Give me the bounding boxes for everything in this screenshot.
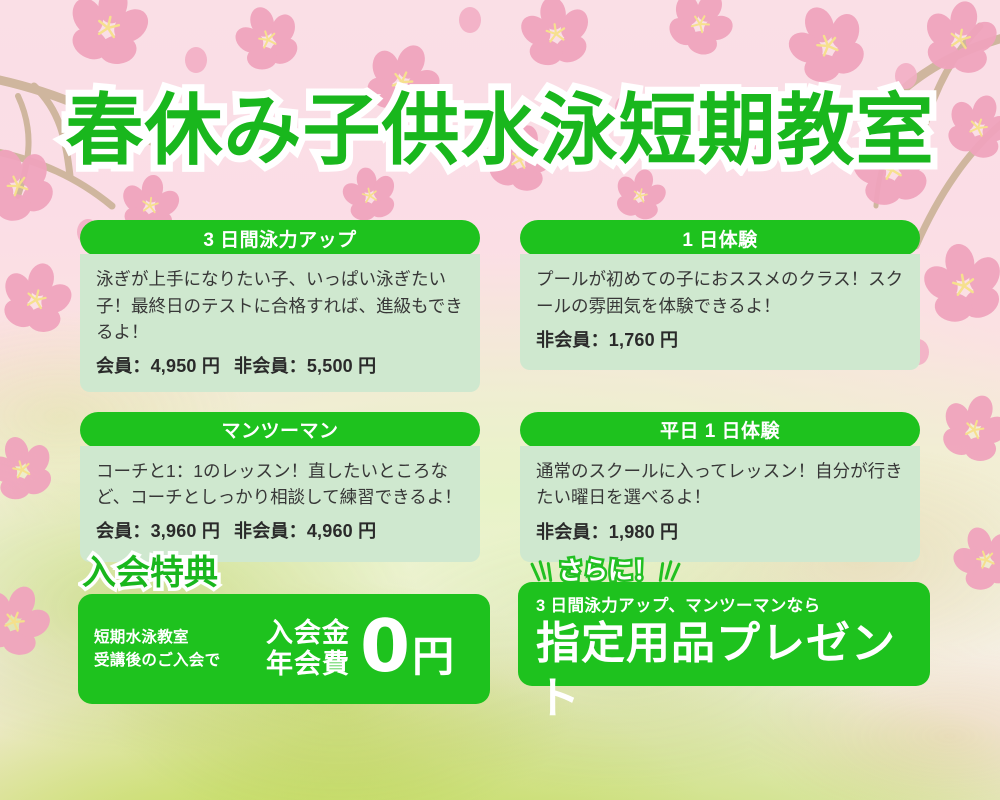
course-description: コーチと1：1のレッスン！直したいところなど、コーチとしっかり相談して練習できる…: [96, 458, 464, 511]
ribbon-slash-left-icon: [532, 558, 558, 584]
fee-amount: 0 円: [360, 614, 454, 684]
ribbon-slash-right-icon: [658, 558, 684, 584]
price-nonmember: 非会員：4,960 円: [234, 521, 376, 541]
poster-root: 春休み子供水泳短期教室 3 日間泳力アップ 泳ぎが上手になりたい子、いっぱい泳ぎ…: [0, 0, 1000, 800]
poster-title: 春休み子供水泳短期教室: [0, 92, 1000, 170]
course-card-body: コーチと1：1のレッスン！直したいところなど、コーチとしっかり相談して練習できる…: [80, 446, 480, 562]
membership-benefit-box: 短期水泳教室 受講後のご入会で 入会金 年会費 0 円: [78, 594, 490, 704]
course-card: 1 日体験 プールが初めての子におススメのクラス！スクールの雰囲気を体験できるよ…: [520, 220, 920, 392]
course-description: 通常のスクールに入ってレッスン！自分が行きたい曜日を選べるよ！: [536, 458, 904, 512]
membership-condition-line1: 短期水泳教室: [94, 626, 262, 649]
gift-headline: 指定用品プレゼント: [536, 616, 916, 726]
gift-benefit-panel: さらに！ 3 日間泳力アップ、マンツーマンなら 指定用品プレゼント: [518, 556, 930, 686]
course-card-body: プールが初めての子におススメのクラス！スクールの雰囲気を体験できるよ！ 非会員：…: [520, 254, 920, 370]
price-member: 会員：3,960 円: [96, 521, 220, 541]
course-card: マンツーマン コーチと1：1のレッスン！直したいところなど、コーチとしっかり相談…: [80, 412, 480, 562]
course-card-grid: 3 日間泳力アップ 泳ぎが上手になりたい子、いっぱい泳ぎたい子！最終日のテストに…: [80, 220, 920, 562]
price-nonmember: 非会員：1,980 円: [536, 522, 678, 542]
course-card: 平日 1 日体験 通常のスクールに入ってレッスン！自分が行きたい曜日を選べるよ！…: [520, 412, 920, 562]
gift-ribbon-text: さらに！: [558, 559, 658, 584]
course-price-row: 非会員：1,980 円: [536, 518, 904, 544]
course-card-heading: 1 日体験: [520, 220, 920, 256]
course-card: 3 日間泳力アップ 泳ぎが上手になりたい子、いっぱい泳ぎたい子！最終日のテストに…: [80, 220, 480, 392]
gift-benefit-box: 3 日間泳力アップ、マンツーマンなら 指定用品プレゼント: [518, 582, 930, 686]
gift-condition: 3 日間泳力アップ、マンツーマンなら: [536, 592, 916, 616]
fee-label-enrollment: 入会金: [266, 618, 350, 649]
membership-condition-line2: 受講後のご入会で: [94, 649, 262, 672]
course-price-row: 会員：4,950 円非会員：5,500 円: [96, 352, 464, 378]
course-card-heading: 平日 1 日体験: [520, 412, 920, 448]
fee-label-annual: 年会費: [266, 649, 350, 680]
course-description: プールが初めての子におススメのクラス！スクールの雰囲気を体験できるよ！: [536, 266, 904, 320]
fee-amount-currency: 円: [412, 623, 454, 684]
course-card-body: 泳ぎが上手になりたい子、いっぱい泳ぎたい子！最終日のテストに合格すれば、進級もで…: [80, 254, 480, 392]
gift-ribbon: さらに！: [532, 556, 930, 586]
membership-fee-labels: 入会金 年会費: [266, 618, 350, 680]
title-text: 春休み子供水泳短期教室: [65, 92, 934, 170]
course-price-row: 非会員：1,760 円: [536, 326, 904, 352]
membership-benefit-panel: 入会特典 短期水泳教室 受講後のご入会で 入会金 年会費 0 円: [78, 556, 490, 704]
price-nonmember: 非会員：5,500 円: [234, 356, 376, 376]
price-nonmember: 非会員：1,760 円: [536, 330, 678, 350]
membership-condition: 短期水泳教室 受講後のご入会で: [94, 626, 262, 673]
membership-benefit-title: 入会特典: [82, 556, 218, 590]
course-card-heading: 3 日間泳力アップ: [80, 220, 480, 256]
course-price-row: 会員：3,960 円非会員：4,960 円: [96, 517, 464, 543]
price-member: 会員：4,950 円: [96, 356, 220, 376]
course-card-heading: マンツーマン: [80, 412, 480, 448]
course-description: 泳ぎが上手になりたい子、いっぱい泳ぎたい子！最終日のテストに合格すれば、進級もで…: [96, 266, 464, 346]
course-card-body: 通常のスクールに入ってレッスン！自分が行きたい曜日を選べるよ！ 非会員：1,98…: [520, 446, 920, 562]
fee-amount-number: 0: [360, 614, 410, 679]
